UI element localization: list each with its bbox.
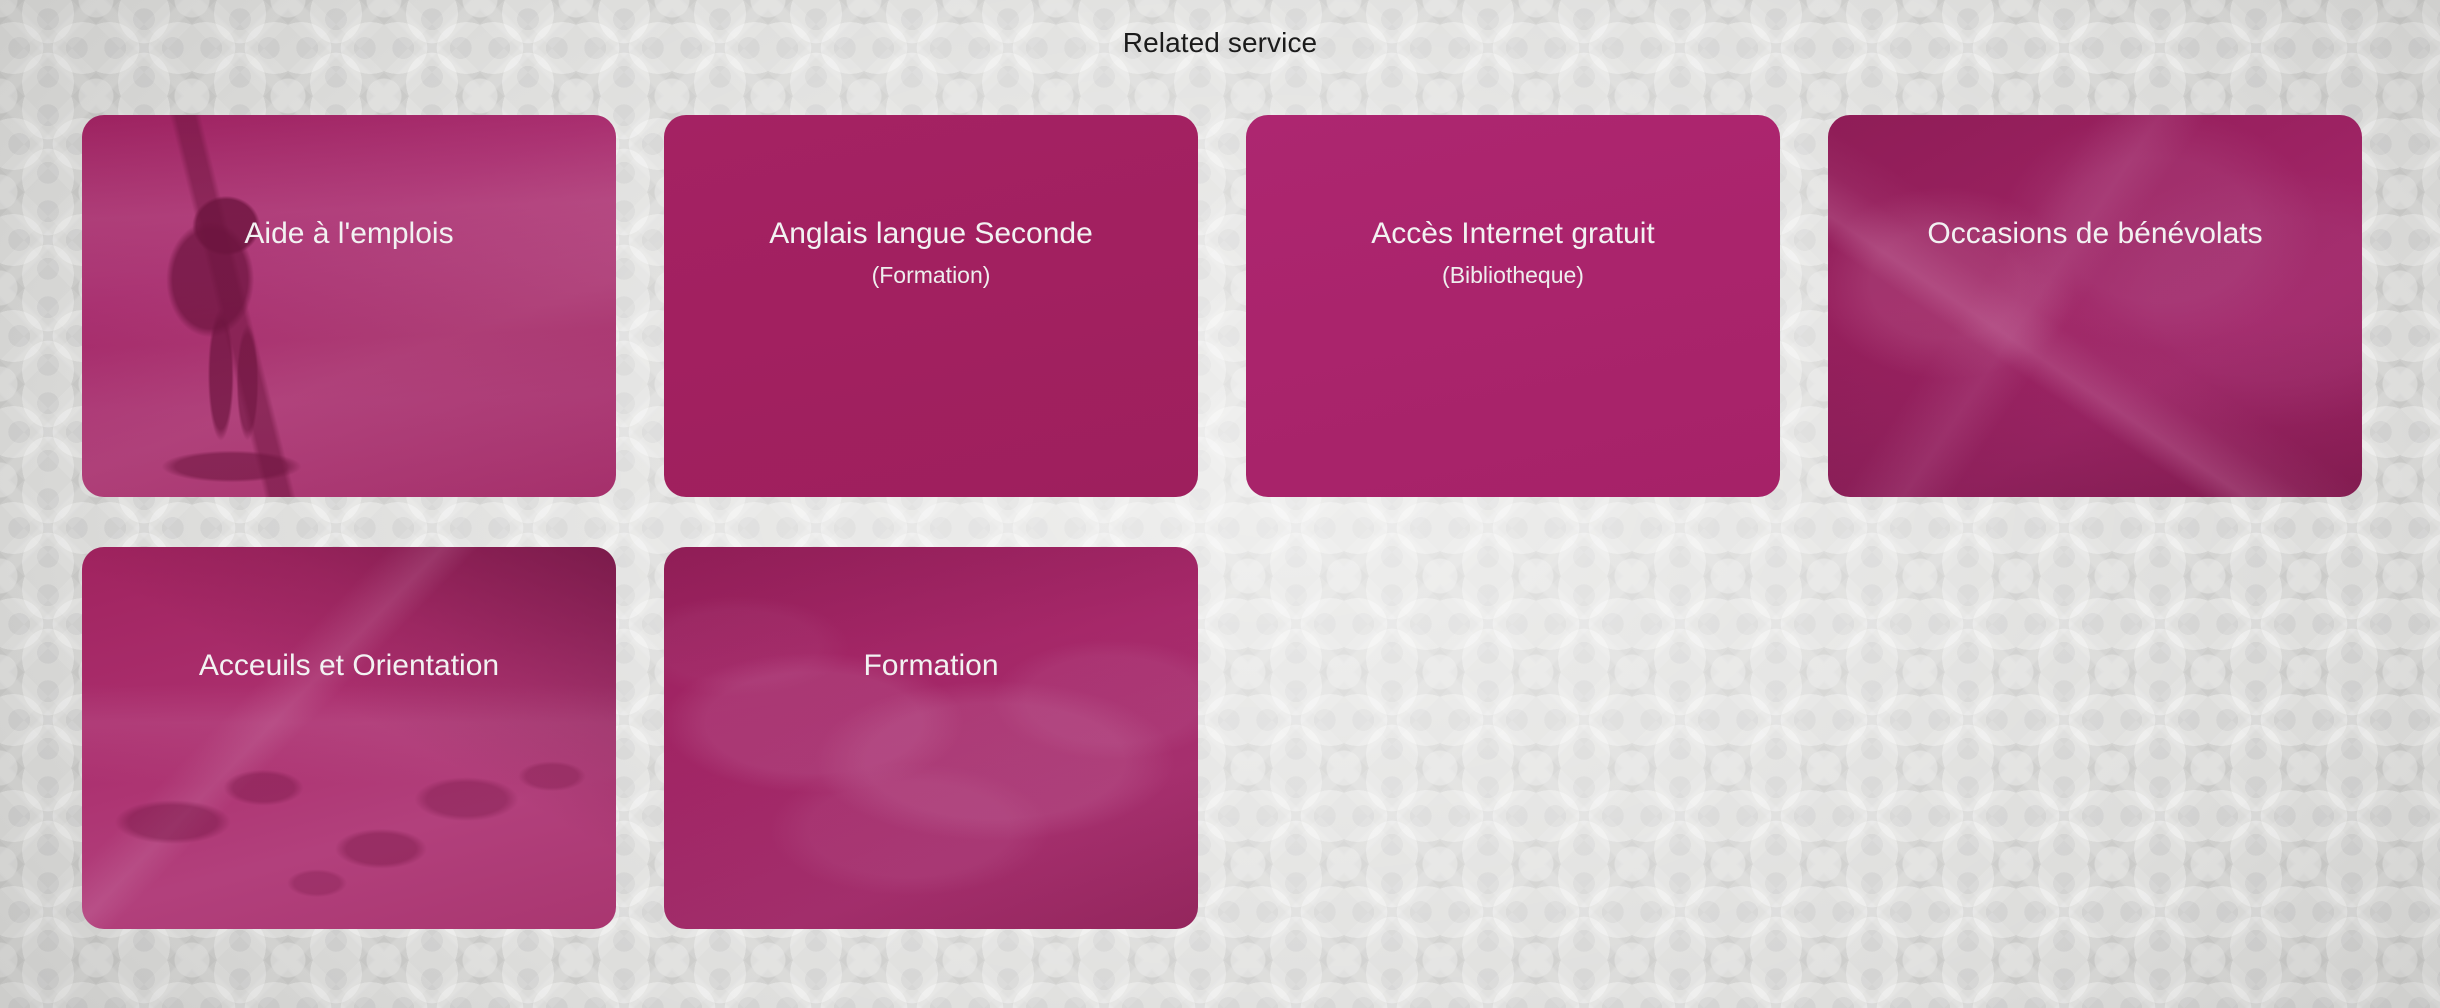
rocky-landscape-photo-image xyxy=(82,547,616,929)
related-service-tile-grid: Aide à l'emplois Anglais langue Seconde … xyxy=(82,115,2358,929)
solid-magenta-background xyxy=(664,115,1198,497)
tile-acceuils-et-orientation[interactable]: Acceuils et Orientation xyxy=(82,547,616,929)
page-title: Related service xyxy=(0,27,2440,59)
tile-row-1: Aide à l'emplois Anglais langue Seconde … xyxy=(82,115,2358,497)
tile-anglais-langue-seconde[interactable]: Anglais langue Seconde (Formation) xyxy=(664,115,1198,497)
mountain-photo-image xyxy=(1828,115,2362,497)
tile-occasions-de-benevolats[interactable]: Occasions de bénévolats xyxy=(1828,115,2362,497)
hiker-photo-image xyxy=(82,115,616,497)
solid-magenta-bright-background xyxy=(1246,115,1780,497)
slide-canvas: Related service Aide à l'emplois Anglais… xyxy=(0,0,2440,1008)
cloud-photo-image xyxy=(664,547,1198,929)
tile-row-2: Acceuils et Orientation Formation xyxy=(82,547,2358,929)
tile-formation[interactable]: Formation xyxy=(664,547,1198,929)
tile-acces-internet-gratuit[interactable]: Accès Internet gratuit (Bibliotheque) xyxy=(1246,115,1780,497)
tile-aide-a-l-emplois[interactable]: Aide à l'emplois xyxy=(82,115,616,497)
